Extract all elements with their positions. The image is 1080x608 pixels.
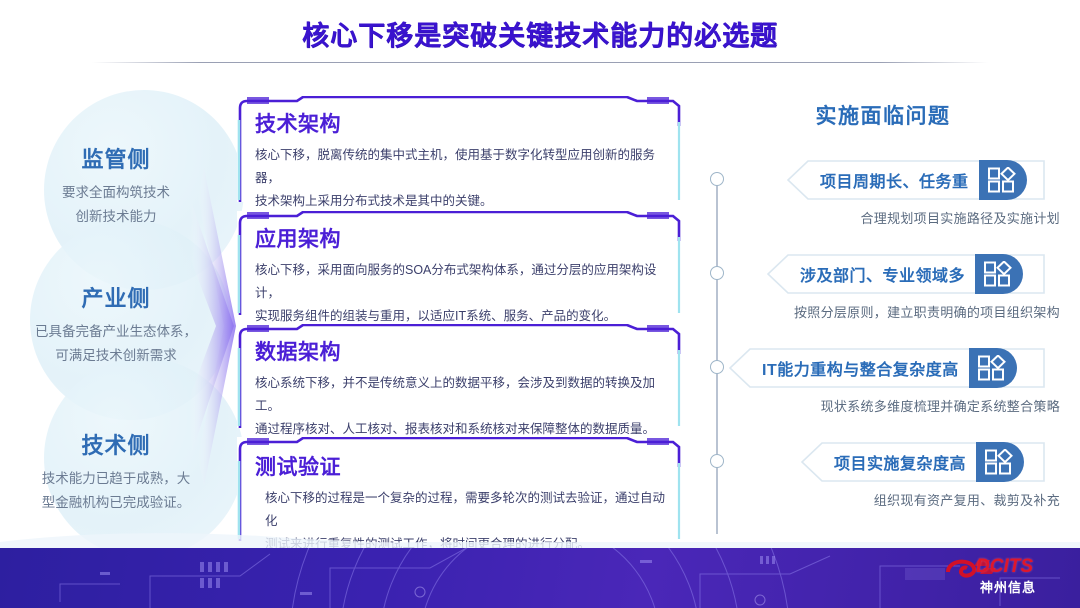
side-body: 技术能力已趋于成熟，大 型金融机构已完成验证。 bbox=[0, 467, 232, 514]
side-body-line: 技术能力已趋于成熟，大 bbox=[8, 467, 224, 491]
issue-subtext: 按照分层原则，建立职责明确的项目组织架构 bbox=[794, 302, 1060, 321]
issue-pill-wrap: IT能力重构与整合复杂度高 bbox=[728, 348, 1017, 388]
issue-pill[interactable]: 涉及部门、专业领域多 bbox=[766, 254, 1023, 294]
issue-label: 项目实施复杂度高 bbox=[800, 442, 976, 482]
title-divider bbox=[92, 62, 988, 63]
issue-item[interactable]: IT能力重构与整合复杂度高 现状系统多维度梳理并确定系统整合策略 bbox=[700, 344, 1066, 428]
side-heading: 产业侧 bbox=[0, 281, 232, 313]
squares-diamond-glyph bbox=[988, 167, 1018, 193]
company-logo: DCITS 神州信息 bbox=[944, 554, 1064, 600]
issue-pill[interactable]: 项目实施复杂度高 bbox=[800, 442, 1024, 482]
issue-label: IT能力重构与整合复杂度高 bbox=[728, 348, 969, 388]
circuit-pattern bbox=[0, 548, 1080, 608]
issue-pill[interactable]: IT能力重构与整合复杂度高 bbox=[728, 348, 1017, 388]
side-body-line: 创新技术能力 bbox=[12, 205, 220, 229]
side-body-line: 要求全面构筑技术 bbox=[12, 181, 220, 205]
issue-pill-wrap: 项目实施复杂度高 bbox=[800, 442, 1024, 482]
right-panel-heading: 实施面临问题 bbox=[700, 100, 1066, 130]
squares-diamond-icon bbox=[976, 442, 1024, 482]
side-body: 已具备完备产业生态体系， 可满足技术创新需求 bbox=[0, 320, 232, 367]
timeline-dot-icon bbox=[710, 360, 724, 374]
side-block-technology: 技术侧 技术能力已趋于成熟，大 型金融机构已完成验证。 bbox=[0, 428, 232, 514]
issue-item[interactable]: 项目周期长、任务重 合理规划项目实施路径及实施计划 bbox=[700, 156, 1066, 240]
card-body: 核心下移，脱离传统的集中式主机，使用基于数字化转型应用创新的服务器， 技术架构上… bbox=[253, 144, 668, 213]
squares-diamond-icon bbox=[969, 348, 1017, 388]
issue-label: 项目周期长、任务重 bbox=[786, 160, 979, 200]
right-panel: 实施面临问题 项目周期长、任务重 bbox=[700, 100, 1066, 540]
card-title: 数据架构 bbox=[253, 336, 668, 366]
issue-subtext: 现状系统多维度梳理并确定系统整合策略 bbox=[821, 396, 1060, 415]
card-title: 应用架构 bbox=[253, 223, 668, 253]
card-body: 核心下移，采用面向服务的SOA分布式架构体系，通过分层的应用架构设计， 实现服务… bbox=[253, 259, 668, 328]
timeline-dot-icon bbox=[710, 266, 724, 280]
side-heading: 技术侧 bbox=[0, 428, 232, 460]
squares-diamond-icon bbox=[979, 160, 1027, 200]
side-heading: 监管侧 bbox=[0, 142, 232, 174]
page-title: 核心下移是突破关键技术能力的必选题 bbox=[0, 14, 1080, 53]
card-body-line: 技术架构上采用分布式技术是其中的关键。 bbox=[255, 190, 668, 213]
squares-diamond-glyph bbox=[978, 355, 1008, 381]
side-body-line: 已具备完备产业生态体系， bbox=[12, 320, 220, 344]
squares-diamond-icon bbox=[975, 254, 1023, 294]
timeline-dot-icon bbox=[710, 454, 724, 468]
slide-root: 核心下移是突破关键技术能力的必选题 监管侧 要求全面构筑技术 创新技术能力 产业… bbox=[0, 0, 1080, 608]
timeline-dot-icon bbox=[710, 172, 724, 186]
squares-diamond-glyph bbox=[985, 449, 1015, 475]
side-block-industry: 产业侧 已具备完备产业生态体系， 可满足技术创新需求 bbox=[0, 281, 232, 367]
issue-item[interactable]: 涉及部门、专业领域多 按照分层原则，建立职责明确的项目组织架构 bbox=[700, 250, 1066, 334]
issue-pill-wrap: 项目周期长、任务重 bbox=[786, 160, 1027, 200]
card-body-line: 核心下移，脱离传统的集中式主机，使用基于数字化转型应用创新的服务器， bbox=[255, 144, 668, 190]
side-body-line: 可满足技术创新需求 bbox=[12, 344, 220, 368]
side-body: 要求全面构筑技术 创新技术能力 bbox=[0, 181, 232, 228]
card-title: 技术架构 bbox=[253, 108, 668, 138]
issue-subtext: 组织现有资产复用、裁剪及补充 bbox=[874, 490, 1060, 509]
card-tech-architecture[interactable]: 技术架构 核心下移，脱离传统的集中式主机，使用基于数字化转型应用创新的服务器， … bbox=[237, 96, 682, 202]
card-data-architecture[interactable]: 数据架构 核心系统下移，并不是传统意义上的数据平移，会涉及到数据的转换及加工。 … bbox=[237, 324, 682, 428]
issue-pill-wrap: 涉及部门、专业领域多 bbox=[766, 254, 1023, 294]
card-body-line: 核心系统下移，并不是传统意义上的数据平移，会涉及到数据的转换及加工。 bbox=[255, 372, 668, 418]
issue-item[interactable]: 项目实施复杂度高 组织现有资产复用、裁剪及补充 bbox=[700, 438, 1066, 522]
card-body: 核心系统下移，并不是传统意义上的数据平移，会涉及到数据的转换及加工。 通过程序核… bbox=[253, 372, 668, 441]
card-body-line: 核心下移，采用面向服务的SOA分布式架构体系，通过分层的应用架构设计， bbox=[255, 259, 668, 305]
footer-wave bbox=[0, 526, 1080, 548]
issue-list: 项目周期长、任务重 合理规划项目实施路径及实施计划 bbox=[700, 156, 1066, 522]
card-title: 测试验证 bbox=[253, 451, 668, 481]
issue-subtext: 合理规划项目实施路径及实施计划 bbox=[860, 208, 1060, 227]
side-body-line: 型金融机构已完成验证。 bbox=[8, 491, 224, 515]
side-block-regulatory: 监管侧 要求全面构筑技术 创新技术能力 bbox=[0, 142, 232, 228]
issue-pill[interactable]: 项目周期长、任务重 bbox=[786, 160, 1027, 200]
issue-label: 涉及部门、专业领域多 bbox=[766, 254, 975, 294]
card-application-architecture[interactable]: 应用架构 核心下移，采用面向服务的SOA分布式架构体系，通过分层的应用架构设计，… bbox=[237, 211, 682, 315]
footer-bar: DCITS 神州信息 bbox=[0, 548, 1080, 608]
left-column: 监管侧 要求全面构筑技术 创新技术能力 产业侧 已具备完备产业生态体系， 可满足… bbox=[0, 86, 232, 536]
slide-header: 核心下移是突破关键技术能力的必选题 bbox=[0, 0, 1080, 74]
logo-subtext: 神州信息 bbox=[980, 577, 1036, 596]
squares-diamond-glyph bbox=[984, 261, 1014, 287]
architecture-card-list: 技术架构 核心下移，脱离传统的集中式主机，使用基于数字化转型应用创新的服务器， … bbox=[237, 96, 682, 550]
logo-wordmark: DCITS bbox=[976, 556, 1033, 578]
